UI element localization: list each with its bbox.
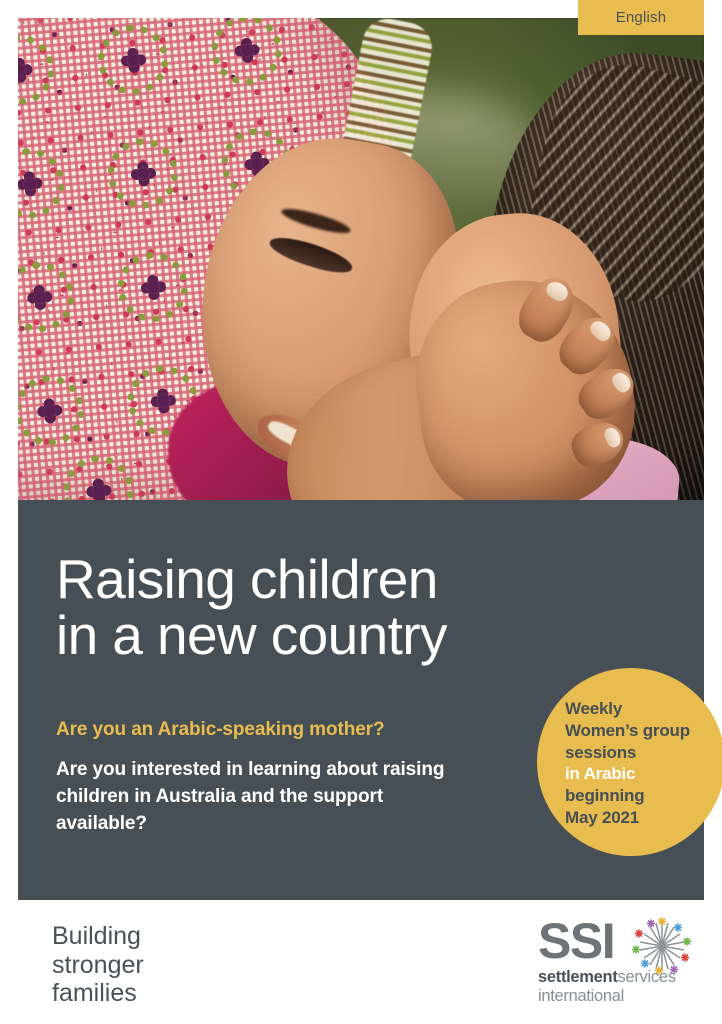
badge-line-5: beginning	[565, 785, 715, 807]
ssi-tagline: settlementservices international	[538, 968, 676, 1006]
page-title-line-1: Raising children	[56, 551, 576, 607]
sessions-badge-text: Weekly Women’s group sessions in Arabic …	[565, 698, 715, 829]
badge-line-1: Weekly	[565, 698, 715, 720]
body-question: Are you interested in learning about rai…	[56, 757, 456, 838]
starburst-icon	[632, 916, 692, 976]
tagline-line-3: families	[52, 979, 144, 1008]
poster-page: English Raising children in a new countr…	[0, 0, 722, 1024]
tagline: Building stronger families	[52, 922, 144, 1008]
badge-line-3: sessions	[565, 742, 715, 764]
page-title: Raising children in a new country	[56, 551, 576, 663]
badge-line-6: May 2021	[565, 807, 715, 829]
page-title-line-2: in a new country	[56, 607, 576, 663]
kicker-question: Are you an Arabic-speaking mother?	[56, 719, 496, 741]
tagline-line-2: stronger	[52, 951, 144, 980]
ssi-tagline-light: services	[618, 968, 676, 986]
fingernail	[603, 426, 623, 449]
language-tab-english[interactable]: English	[578, 0, 704, 35]
ssi-tagline-bold: settlement	[538, 968, 618, 986]
content-panel: Raising children in a new country Are yo…	[18, 500, 704, 900]
ssi-wordmark: SSI	[538, 918, 614, 964]
badge-line-2: Women’s group	[565, 720, 715, 742]
sessions-badge: Weekly Women’s group sessions in Arabic …	[537, 668, 722, 856]
fingernail	[543, 278, 571, 304]
tagline-line-1: Building	[52, 922, 144, 951]
ssi-logo: SSI	[532, 918, 704, 1008]
hero-photo	[18, 18, 704, 500]
badge-line-4: in Arabic	[565, 763, 715, 785]
ssi-tagline-line2: international	[538, 987, 676, 1006]
